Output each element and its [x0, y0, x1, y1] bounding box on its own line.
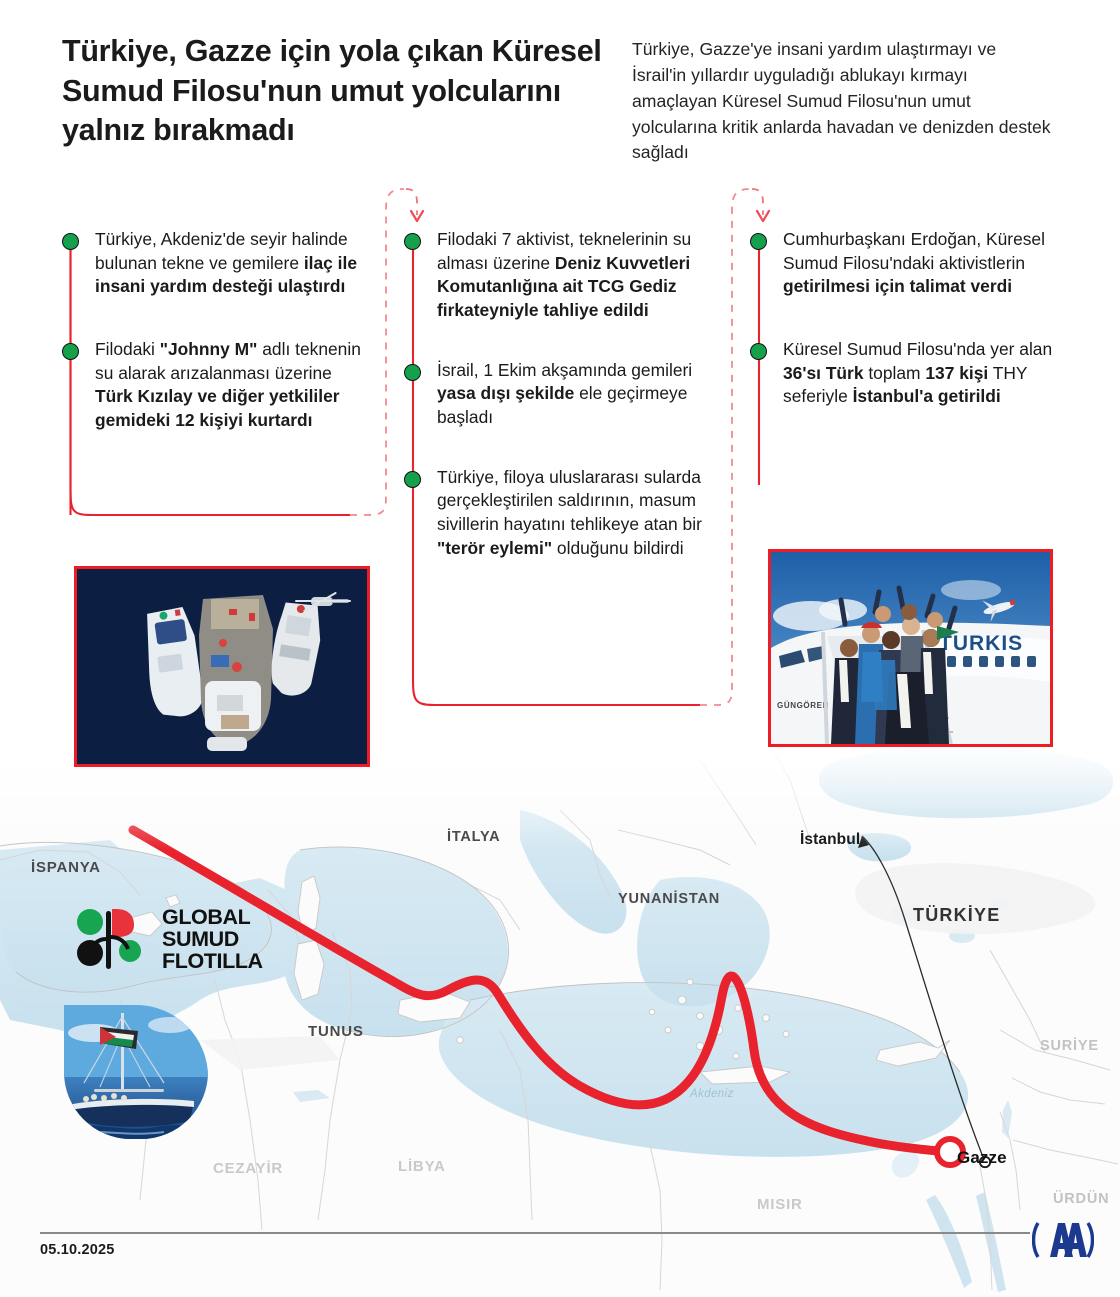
map-label-turkiye: TÜRKİYE	[913, 905, 1000, 926]
footer-date: 05.10.2025	[40, 1242, 115, 1258]
photo-activists-aircraft: TURKIS GÜNGÖREN	[768, 549, 1053, 747]
gsf-logo-wordmark: GLOBAL SUMUD FLOTILLA	[162, 907, 263, 973]
bullet-item: Cumhurbaşkanı Erdoğan, Küresel Sumud Fil…	[750, 228, 1065, 299]
map-label-ispanya: İSPANYA	[31, 859, 101, 876]
photo-rescue-boats-art	[77, 569, 367, 764]
global-sumud-flotilla-logo: GLOBAL SUMUD FLOTILLA	[68, 905, 298, 975]
bullet-item: Filodaki 7 aktivist, teknelerinin su alm…	[404, 228, 724, 323]
bullet-text: Küresel Sumud Filosu'nda yer alan 36'sı …	[783, 338, 1065, 409]
footer-divider	[40, 1232, 1030, 1234]
bullet-text: İsrail, 1 Ekim akşamında gemileri yasa d…	[437, 359, 724, 430]
mediterranean-map	[0, 700, 1120, 1297]
gsf-logo-mark	[68, 905, 154, 975]
photo-activists-aircraft-art: TURKIS GÜNGÖREN	[771, 552, 1050, 744]
map-label-suriye: SURİYE	[1040, 1038, 1099, 1054]
gsf-logo-line-3: FLOTILLA	[162, 951, 263, 973]
page-title: Türkiye, Gazze için yola çıkan Küresel S…	[62, 32, 602, 151]
col2-arrow-head	[411, 211, 423, 221]
bullet-text: Cumhurbaşkanı Erdoğan, Küresel Sumud Fil…	[783, 228, 1065, 299]
map-label-gazze: Gazze	[957, 1148, 1007, 1168]
bullet-item: Türkiye, filoya uluslararası sularda ger…	[404, 466, 724, 561]
map-label-akdeniz: Akdeniz	[690, 1088, 734, 1100]
airline-livery-text: TURKIS	[939, 632, 1023, 655]
aa-logo-mark	[1032, 1219, 1094, 1261]
map-label-urdun: ÜRDÜN	[1053, 1191, 1109, 1207]
map-label-tunus: TUNUS	[308, 1023, 364, 1040]
green-dot-icon	[750, 343, 767, 360]
bullet-item: İsrail, 1 Ekim akşamında gemileri yasa d…	[404, 359, 724, 430]
bullet-text: Türkiye, filoya uluslararası sularda ger…	[437, 466, 724, 561]
photo-rescue-boats	[74, 566, 370, 767]
gsf-logo-line-1: GLOBAL	[162, 907, 263, 929]
green-dot-icon	[62, 233, 79, 250]
map-label-cezayir: CEZAYİR	[213, 1160, 283, 1177]
green-dot-icon	[404, 471, 421, 488]
infographic-page: İSPANYA İTALYA YUNANİSTAN TUNUS CEZAYİR …	[0, 0, 1120, 1297]
gsf-logo-line-2: SUMUD	[162, 929, 263, 951]
map-background	[0, 700, 1120, 1297]
bullet-text: Filodaki "Johnny M" adlı teknenin su ala…	[95, 338, 372, 433]
anadolu-agency-logo	[1032, 1219, 1094, 1261]
bullet-item: Türkiye, Akdeniz'de seyir halinde buluna…	[62, 228, 372, 299]
bullet-item: Filodaki "Johnny M" adlı teknenin su ala…	[62, 338, 372, 433]
col3-arrow-head	[757, 211, 769, 221]
map-label-libya: LİBYA	[398, 1158, 446, 1175]
bullet-item: Küresel Sumud Filosu'nda yer alan 36'sı …	[750, 338, 1065, 409]
green-dot-icon	[404, 364, 421, 381]
bullet-text: Türkiye, Akdeniz'de seyir halinde buluna…	[95, 228, 372, 299]
bullet-column-2: Filodaki 7 aktivist, teknelerinin su alm…	[404, 228, 724, 587]
map-label-italya: İTALYA	[447, 829, 500, 845]
map-label-yunanistan: YUNANİSTAN	[618, 891, 720, 907]
photo-sailboat	[64, 1005, 208, 1139]
green-dot-icon	[404, 233, 421, 250]
map-label-istanbul: İstanbul	[800, 831, 860, 849]
bullet-text: Filodaki 7 aktivist, teknelerinin su alm…	[437, 228, 724, 323]
aircraft-name-text: GÜNGÖREN	[777, 701, 829, 710]
bullet-column-1: Türkiye, Akdeniz'de seyir halinde buluna…	[62, 228, 372, 460]
photo-sailboat-art	[64, 1005, 208, 1139]
green-dot-icon	[750, 233, 767, 250]
map-label-misir: MISIR	[757, 1196, 803, 1213]
bullet-column-3: Cumhurbaşkanı Erdoğan, Küresel Sumud Fil…	[750, 228, 1065, 436]
page-subtitle: Türkiye, Gazze'ye insani yardım ulaştırm…	[632, 37, 1052, 166]
green-dot-icon	[62, 343, 79, 360]
